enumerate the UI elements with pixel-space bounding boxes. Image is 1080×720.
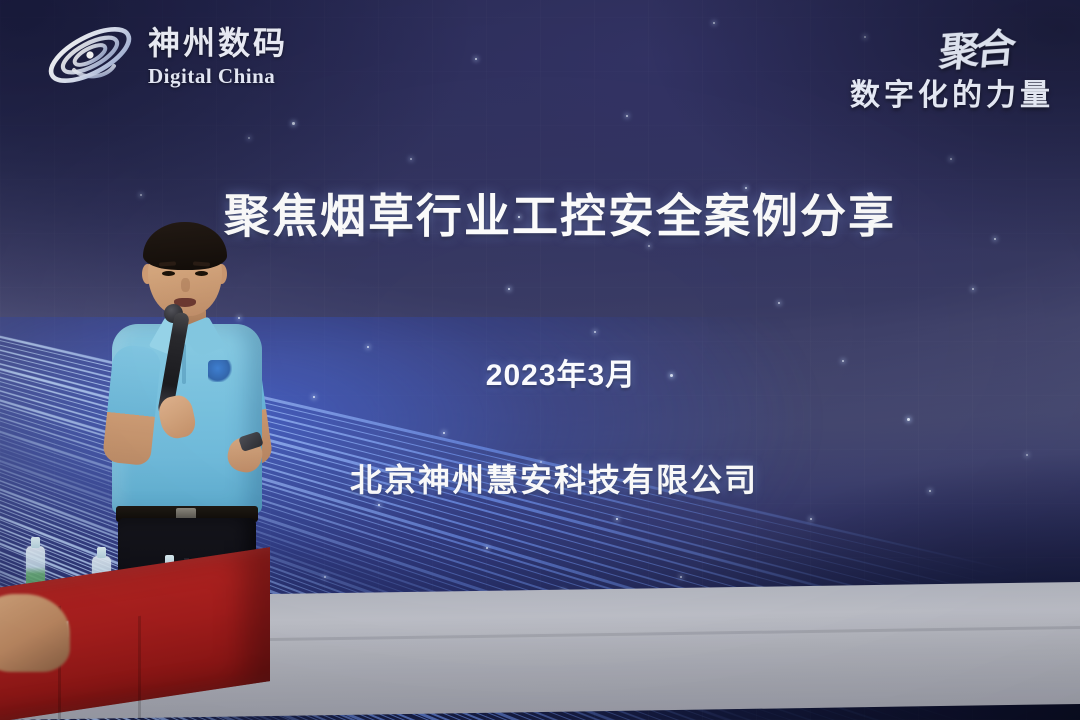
speaker-chest-logo xyxy=(208,360,232,382)
brush-calligraphy-wrap: 聚合 xyxy=(850,18,1054,76)
brand-name-en: Digital China xyxy=(148,66,288,87)
speaker-hair xyxy=(143,222,227,270)
event-slogan-logo: 聚合 数字化的力量 xyxy=(850,18,1054,114)
brand-name-cn: 神州数码 xyxy=(148,25,288,61)
speaker-eye-right xyxy=(195,271,208,276)
digital-china-swirl-logo-icon xyxy=(44,16,136,94)
brush-calligraphy-text: 聚合 xyxy=(937,16,1015,79)
speaker-eye-left xyxy=(162,271,175,276)
digital-china-wordmark: 神州数码 Digital China xyxy=(148,23,288,87)
digital-china-logo: 神州数码 Digital China xyxy=(44,16,288,94)
tablecloth-fold xyxy=(138,616,141,720)
conference-stage-photo: 神州数码 Digital China 聚合 数字化的力量 聚焦烟草行业工控安全案… xyxy=(0,0,1080,720)
speaker-nose xyxy=(181,278,190,292)
